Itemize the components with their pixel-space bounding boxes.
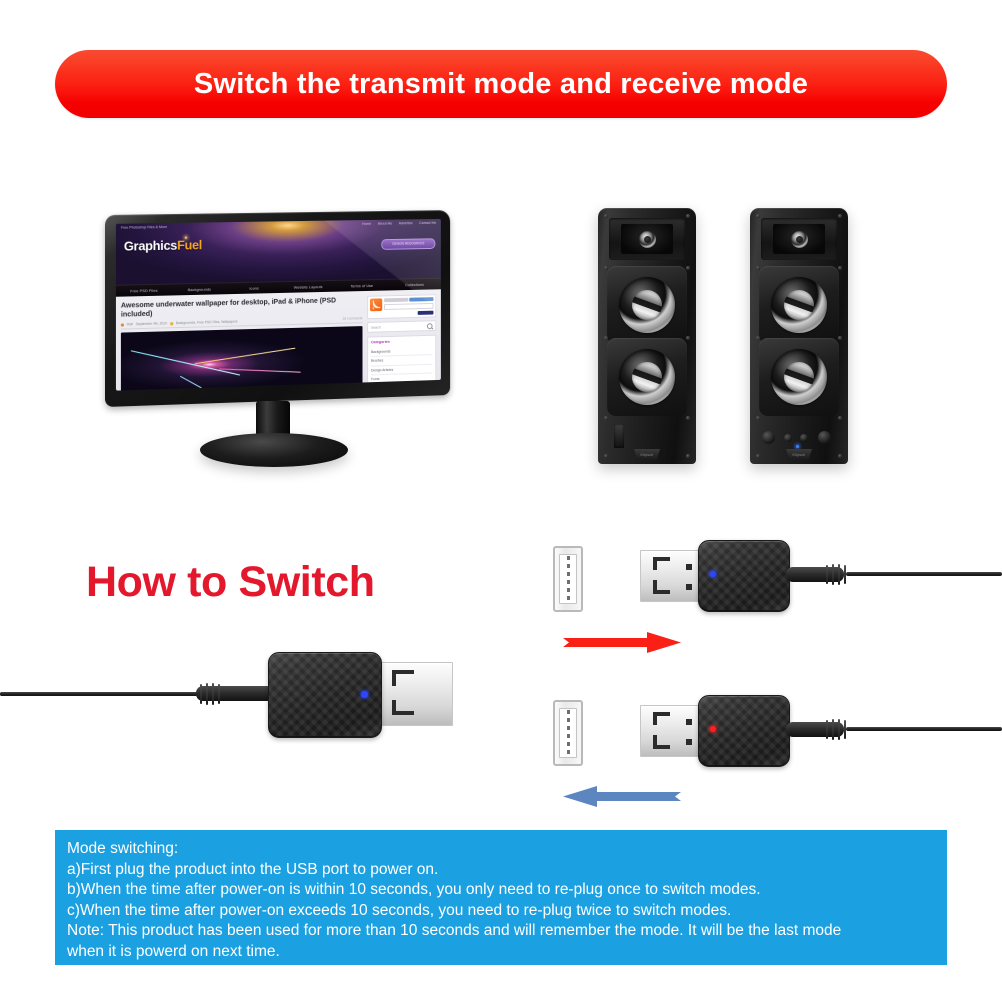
rss-icon[interactable] [370, 299, 382, 312]
device-main [0, 640, 470, 770]
post-date: September 4th, 2010 [136, 321, 167, 326]
speaker-right-bottom: Klipsch [750, 420, 848, 464]
site-logo-part1: Graphics [124, 238, 177, 254]
power-led-icon [796, 445, 799, 448]
usb-port-icon-transmit [553, 546, 583, 612]
speaker-left: Klipsch [598, 208, 696, 464]
monitor-screen: Free Photoshop Files & More Home About M… [116, 219, 441, 391]
site-sidebar: Search Categories Backgrounds Brushes De… [367, 295, 436, 383]
note-line-a: a)First plug the product into the USB po… [67, 860, 935, 881]
arrow-transmit-right [563, 630, 683, 652]
control-button-2[interactable] [800, 434, 808, 442]
site-logo-part2: Fuel [177, 237, 202, 252]
nav-item-backgrounds[interactable]: Backgrounds [172, 287, 227, 293]
woofer-upper-right [771, 277, 827, 333]
subscribe-fields [384, 298, 433, 316]
woofer-housing-lower-left [607, 338, 687, 416]
email-field[interactable] [384, 303, 433, 311]
nav-item-terms-of-use[interactable]: Terms of Use [335, 283, 388, 289]
note-line-note-2: when it is powerd on next time. [67, 942, 935, 963]
speakers-illustration: Klipsch [598, 208, 848, 466]
woofer-upper-left [619, 277, 675, 333]
note-line-c: c)When the time after power-on exceeds 1… [67, 901, 935, 922]
tweeter-housing-left [609, 218, 685, 260]
monitor-illustration: Free Photoshop Files & More Home About M… [105, 215, 465, 475]
search-input[interactable]: Search [367, 320, 436, 333]
status-led-main [361, 691, 368, 698]
note-line-title: Mode switching: [67, 839, 935, 860]
nav-item-collections[interactable]: Collections [388, 282, 441, 288]
post-tags: Backgrounds, Free PSD Files, Wallpapers [176, 320, 238, 326]
top-nav-advertise[interactable]: Advertise [399, 221, 413, 226]
monitor-stand-base [200, 433, 348, 467]
category-free-psd-files[interactable]: Free PSD Files [371, 382, 433, 391]
post-comments[interactable]: 28 Comments [343, 316, 363, 321]
device-body-main [268, 652, 382, 738]
status-led-receive [710, 726, 716, 732]
banner-title: Switch the transmit mode and receive mod… [194, 70, 808, 99]
top-nav-home[interactable]: Home [362, 222, 371, 227]
bass-port-left [614, 424, 624, 448]
status-led-transmit [710, 571, 716, 577]
volume-knob[interactable] [762, 431, 775, 444]
note-line-note-1: Note: This product has been used for mor… [67, 921, 935, 942]
submit-button[interactable] [418, 310, 434, 315]
search-icon [427, 323, 433, 329]
website-mockup: Free Photoshop Files & More Home About M… [116, 219, 441, 391]
folder-icon [170, 322, 173, 325]
arrow-receive-left [563, 784, 683, 806]
speaker-brand-right: Klipsch [786, 449, 812, 460]
site-main-column: Awesome underwater wallpaper for desktop… [121, 296, 363, 390]
nav-item-free-psd-files[interactable]: Free PSD Files [116, 288, 172, 294]
speaker-brand-left: Klipsch [634, 449, 660, 460]
woofer-housing-lower-right [759, 338, 839, 416]
nav-item-website-layouts[interactable]: Website Layouts [281, 284, 335, 290]
speaker-right: Klipsch [750, 208, 848, 464]
tweeter-right [791, 231, 808, 248]
monitor-bezel: Free Photoshop Files & More Home About M… [105, 210, 450, 407]
nav-item-icons[interactable]: Icons [227, 286, 281, 292]
control-button-1[interactable] [784, 434, 792, 442]
speaker-left-bottom: Klipsch [598, 420, 696, 464]
monitor-body: Free Photoshop Files & More Home About M… [105, 210, 450, 407]
device-body-transmit [698, 540, 790, 612]
search-placeholder: Search [371, 325, 381, 329]
infographic-canvas: Switch the transmit mode and receive mod… [0, 0, 1002, 1002]
post-title[interactable]: Awesome underwater wallpaper for desktop… [121, 296, 363, 319]
site-body: Awesome underwater wallpaper for desktop… [116, 290, 441, 391]
top-nav-contact[interactable]: Contact Me [419, 221, 436, 226]
top-nav-about[interactable]: About Me [378, 222, 392, 227]
site-hero: Free Photoshop Files & More Home About M… [116, 219, 441, 297]
logo-spark-icon [185, 237, 187, 239]
header-banner: Switch the transmit mode and receive mod… [55, 50, 947, 118]
post-author: Rafi [127, 322, 133, 326]
device-body-receive [698, 695, 790, 767]
categories-widget: Categories Backgrounds Brushes Design Ar… [367, 335, 436, 391]
woofer-housing-upper-right [759, 266, 839, 344]
woofer-lower-left [619, 349, 675, 405]
device-receive [640, 695, 1000, 775]
woofer-lower-right [771, 349, 827, 405]
usb-port-icon-receive [553, 700, 583, 766]
subscribe-box [367, 295, 436, 320]
woofer-housing-upper-left [607, 266, 687, 344]
site-tagline: Free Photoshop Files & More [121, 225, 167, 230]
power-knob[interactable] [818, 431, 831, 444]
category-fonts[interactable]: Fonts [371, 372, 433, 383]
post-featured-image [121, 326, 363, 390]
site-logo[interactable]: GraphicsFuel [124, 237, 202, 255]
how-to-switch-title: How to Switch [86, 561, 375, 604]
note-line-b: b)When the time after power-on is within… [67, 880, 935, 901]
tweeter-housing-right [761, 218, 837, 260]
site-top-nav: Home About Me Advertise Contact Me [362, 221, 436, 227]
tweeter-left [639, 231, 656, 248]
mode-switching-note: Mode switching: a)First plug the product… [55, 830, 947, 965]
author-icon [121, 323, 124, 326]
device-transmit [640, 540, 1000, 620]
design-resources-button[interactable]: DESIGN RESOURCES [381, 238, 435, 250]
categories-title: Categories [371, 339, 433, 345]
